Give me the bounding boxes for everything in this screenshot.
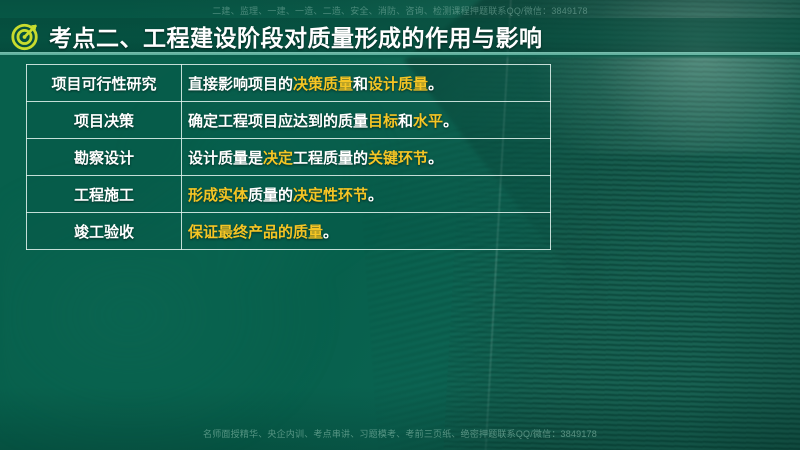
plain-text: 。	[323, 224, 338, 241]
title-underline-shadow	[0, 55, 800, 59]
highlighted-text: 决定性环节	[293, 187, 368, 204]
plain-text: 。	[428, 76, 443, 93]
highlighted-text: 决定	[263, 150, 293, 167]
table-cell-stage: 项目决策	[27, 102, 182, 139]
plain-text: 工程质量的	[293, 150, 368, 167]
table-cell-effect: 直接影响项目的决策质量和设计质量。	[182, 65, 551, 102]
table-cell-stage: 项目可行性研究	[27, 65, 182, 102]
slide-canvas: 二建、监理、一建、一造、二造、安全、消防、咨询、检测课程押题联系QQ/微信：38…	[0, 0, 800, 450]
table-cell-effect: 保证最终产品的质量。	[182, 213, 551, 250]
table-cell-stage: 勘察设计	[27, 139, 182, 176]
plain-text: 和	[353, 76, 368, 93]
table-cell-effect: 形成实体质量的决定性环节。	[182, 176, 551, 213]
plain-text: 确定工程项目应达到的质量	[188, 113, 368, 130]
highlighted-text: 关键环节	[368, 150, 428, 167]
highlighted-text: 决策质量	[293, 76, 353, 93]
table-cell-stage: 工程施工	[27, 176, 182, 213]
watermark-bottom: 名师面授精华、央企内训、考点串讲、习题模考、考前三页纸、绝密押题联系QQ/微信：…	[0, 428, 800, 440]
title-bar: 考点二、工程建设阶段对质量形成的作用与影响	[0, 18, 800, 54]
plain-text: 。	[368, 187, 383, 204]
plain-text: 和	[398, 113, 413, 130]
highlighted-text: 水平	[413, 113, 443, 130]
table-row: 项目可行性研究直接影响项目的决策质量和设计质量。	[27, 65, 551, 102]
highlighted-text: 形成实体	[188, 187, 248, 204]
table-row: 勘察设计设计质量是决定工程质量的关键环节。	[27, 139, 551, 176]
table-cell-effect: 确定工程项目应达到的质量目标和水平。	[182, 102, 551, 139]
plain-text: 直接影响项目的	[188, 76, 293, 93]
table-row: 工程施工形成实体质量的决定性环节。	[27, 176, 551, 213]
watermark-top: 二建、监理、一建、一造、二造、安全、消防、咨询、检测课程押题联系QQ/微信：38…	[0, 5, 800, 17]
highlighted-text: 目标	[368, 113, 398, 130]
highlighted-text: 设计质量	[368, 76, 428, 93]
content-table-wrapper: 项目可行性研究直接影响项目的决策质量和设计质量。项目决策确定工程项目应达到的质量…	[26, 64, 551, 250]
highlighted-text: 保证最终产品的质量	[188, 224, 323, 241]
plain-text: 。	[443, 113, 458, 130]
table-cell-stage: 竣工验收	[27, 213, 182, 250]
page-title: 考点二、工程建设阶段对质量形成的作用与影响	[49, 19, 543, 53]
plain-text: 设计质量是	[188, 150, 263, 167]
table-row: 竣工验收保证最终产品的质量。	[27, 213, 551, 250]
target-dart-icon	[10, 21, 40, 51]
table-row: 项目决策确定工程项目应达到的质量目标和水平。	[27, 102, 551, 139]
plain-text: 质量的	[248, 187, 293, 204]
plain-text: 。	[428, 150, 443, 167]
table-cell-effect: 设计质量是决定工程质量的关键环节。	[182, 139, 551, 176]
stage-quality-table: 项目可行性研究直接影响项目的决策质量和设计质量。项目决策确定工程项目应达到的质量…	[26, 64, 551, 250]
